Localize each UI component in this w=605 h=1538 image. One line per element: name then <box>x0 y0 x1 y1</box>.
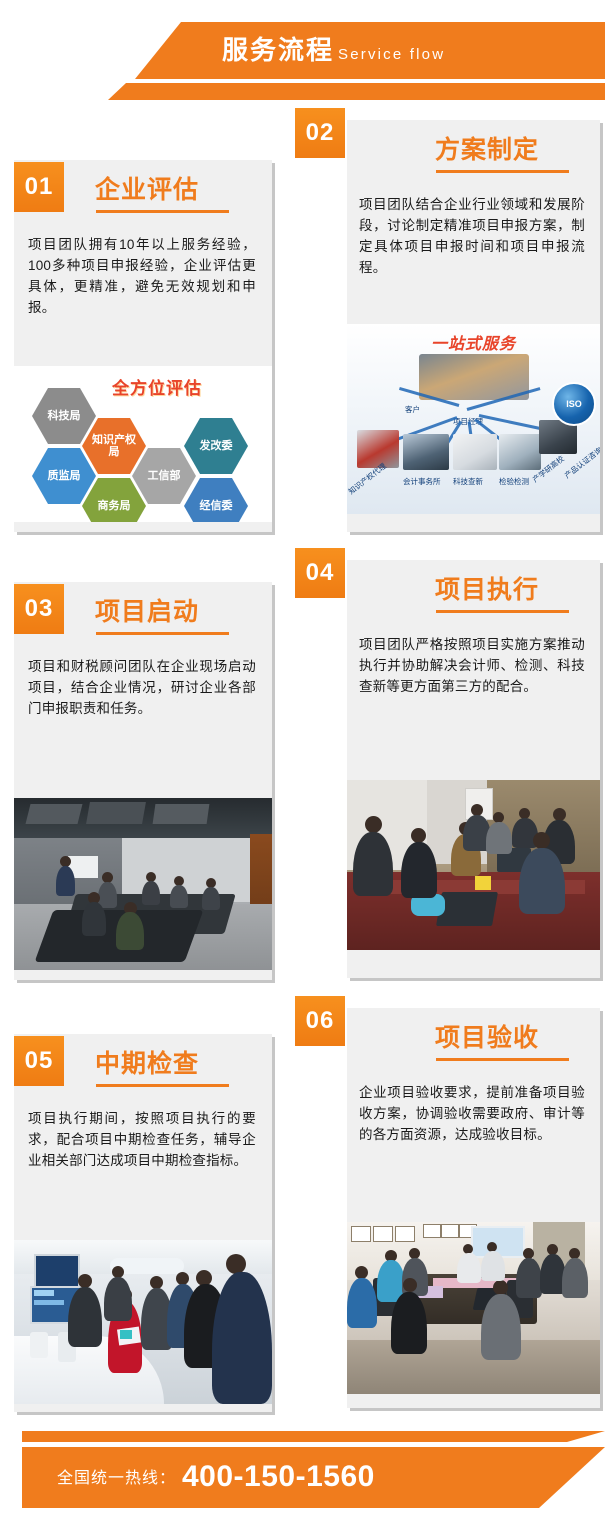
hex-node-shangwuju-label: 商务局 <box>92 500 137 512</box>
card-02-number-badge: 02 <box>295 108 345 158</box>
card-06-title-underline <box>436 1058 569 1061</box>
card-03-title-underline <box>96 632 229 635</box>
hex-node-jingxinwei: 经信委 <box>184 478 248 522</box>
one-stop-thumb-account <box>403 434 449 470</box>
card-06-title: 项目验收 <box>435 1018 539 1054</box>
hex-node-zhijianju: 质监局 <box>32 448 96 504</box>
card-04-number-badge: 04 <box>295 548 345 598</box>
card-05-title-underline <box>96 1084 229 1087</box>
process-card-03[interactable]: 03 项目启动 项目和财税顾问团队在企业现场启动项目，结合企业情况，研讨企业各部… <box>0 570 290 990</box>
one-stop-thumb-testing <box>499 434 541 470</box>
footer-hotline-number[interactable]: 400-150-1560 <box>182 1458 375 1496</box>
card-01-title-underline <box>96 210 229 213</box>
card-04-title: 项目执行 <box>435 570 539 606</box>
footer-accent-stripe <box>22 1431 605 1442</box>
card-03-photo-conference-room <box>14 798 272 970</box>
card-02-body-text: 项目团队结合企业行业领域和发展阶段，讨论制定精准项目申报方案，制定具体项目申报时… <box>359 194 585 278</box>
one-stop-branch-research: 科技查新 <box>453 476 483 487</box>
one-stop-branch-account: 会计事务所 <box>403 476 441 487</box>
card-05-photo-site-inspection <box>14 1240 272 1404</box>
card-03-body-text: 项目和财税顾问团队在企业现场启动项目，结合企业情况，研讨企业各部门申报职责和任务… <box>28 656 256 719</box>
page-header: 服务流程 Service flow <box>0 0 605 120</box>
card-05-title: 中期检查 <box>95 1044 199 1080</box>
card-02-title-underline <box>436 170 569 173</box>
hex-node-jingxinwei-label: 经信委 <box>194 500 239 512</box>
card-01-body-text: 项目团队拥有10年以上服务经验，100多种项目申报经验，企业评估更具体，更精准，… <box>28 234 256 318</box>
process-card-04[interactable]: 04 项目执行 项目团队严格按照项目实施方案推动执行并协助解决会计师、检测、科技… <box>295 548 605 988</box>
card-01-title: 企业评估 <box>95 170 199 206</box>
process-card-01[interactable]: 01 企业评估 项目团队拥有10年以上服务经验，100多种项目申报经验，企业评估… <box>0 148 290 538</box>
footer-hotline-label: 全国统一热线： <box>57 1467 176 1491</box>
card-05-body-text: 项目执行期间，按照项目执行的要求，配合项目中期检查任务，辅导企业相关部门达成项目… <box>28 1108 256 1171</box>
header-banner-accent-stripe <box>108 83 605 100</box>
card-06-photo-acceptance-meeting <box>347 1222 600 1394</box>
hex-chart-title: 全方位评估 <box>112 374 202 399</box>
card-01-number-badge: 01 <box>14 162 64 212</box>
card-04-body-text: 项目团队严格按照项目实施方案推动执行并协助解决会计师、检测、科技查新等更方面第三… <box>359 634 585 697</box>
one-stop-label-customer: 客户 <box>405 404 420 415</box>
process-card-05[interactable]: 05 中期检查 项目执行期间，按照项目执行的要求，配合项目中期检查任务，辅导企业… <box>0 1022 290 1422</box>
card-04-title-underline <box>436 610 569 613</box>
one-stop-iso-seal: ISO <box>552 382 596 426</box>
hex-node-zhishichanquan: 知识产权局 <box>82 418 146 474</box>
card-03-title: 项目启动 <box>95 592 199 628</box>
process-card-06[interactable]: 06 项目验收 企业项目验收要求，提前准备项目验收方案，协调验收需要政府、审计等… <box>295 996 605 1418</box>
hex-node-keji-label: 科技局 <box>42 410 87 422</box>
card-03-number-badge: 03 <box>14 584 64 634</box>
card-05-number-badge: 05 <box>14 1036 64 1086</box>
one-stop-branch-testing: 检验检测 <box>499 476 529 487</box>
card-02-title: 方案制定 <box>435 130 539 166</box>
hex-node-zhijianju-label: 质监局 <box>42 470 87 482</box>
hex-node-fagaiwei: 发改委 <box>184 418 248 474</box>
page-title: 服务流程 <box>222 28 334 72</box>
hex-node-gongxinbu: 工信部 <box>132 448 196 504</box>
hex-node-fagaiwei-label: 发改委 <box>194 440 239 452</box>
card-06-body-text: 企业项目验收要求，提前准备项目验收方案，协调验收需要政府、审计等的各方面资源，达… <box>359 1082 585 1145</box>
one-stop-title: 一站式服务 <box>431 330 516 354</box>
hex-node-zhishichanquan-label: 知识产权局 <box>82 434 146 458</box>
card-04-photo-working-meeting <box>347 780 600 950</box>
hex-node-keji: 科技局 <box>32 388 96 444</box>
one-stop-thumb-research <box>453 434 497 470</box>
hex-node-gongxinbu-label: 工信部 <box>142 470 187 482</box>
card-02-one-stop-diagram: 一站式服务 客户 项目经理 ISO 知识产权代理 会计事务所 科技查新 检验检测… <box>347 324 600 514</box>
card-01-hexagon-chart: 全方位评估 科技局 知识产权局 质监局 工信部 商务局 发改委 经信委 <box>14 366 272 522</box>
one-stop-hub-photo <box>419 354 529 400</box>
process-card-02[interactable]: 02 方案制定 项目团队结合企业行业领域和发展阶段，讨论制定精准项目申报方案，制… <box>295 108 605 538</box>
card-06-number-badge: 06 <box>295 996 345 1046</box>
page-subtitle: Service flow <box>338 40 445 70</box>
hex-node-shangwuju: 商务局 <box>82 478 146 522</box>
